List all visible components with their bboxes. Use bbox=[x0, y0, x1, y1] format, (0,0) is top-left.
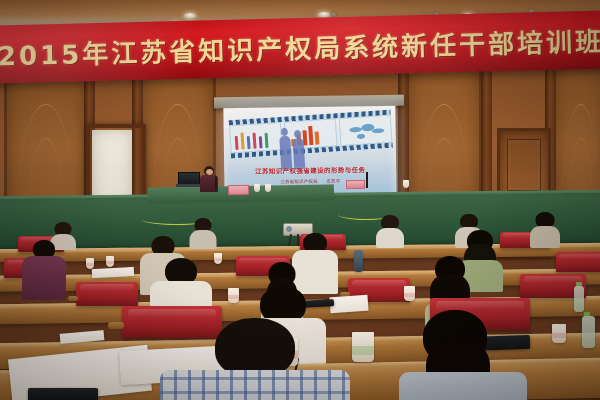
photo-scene: 江苏知识产权强省建设的形势与任务 江苏省知识产权局 支苏平 2015年7月3日 … bbox=[0, 0, 600, 400]
printed-handout-r3[interactable] bbox=[329, 295, 368, 314]
projector-lens bbox=[286, 226, 292, 232]
cup-r2-1[interactable] bbox=[552, 324, 566, 343]
water-bottle-r3[interactable] bbox=[574, 286, 584, 312]
attendee-hair bbox=[215, 318, 295, 378]
seat-r3-1[interactable] bbox=[76, 282, 138, 306]
tablet-foreground[interactable] bbox=[28, 388, 98, 400]
attendee-back-5 bbox=[530, 212, 560, 247]
cup-r4-3[interactable] bbox=[214, 253, 222, 264]
seat-r4-3[interactable] bbox=[556, 252, 600, 272]
head-table-cup-3 bbox=[403, 180, 409, 188]
laptop-base bbox=[176, 184, 200, 187]
cup-r3-1[interactable] bbox=[228, 288, 239, 303]
water-bottle-r2[interactable] bbox=[582, 316, 595, 348]
microphone-stand-right bbox=[366, 172, 368, 188]
head-table-cup-2 bbox=[265, 184, 271, 192]
cup-r4-2[interactable] bbox=[106, 256, 114, 267]
ceiling-light-2 bbox=[184, 13, 196, 19]
attendee-plaid-shirt-foreground bbox=[160, 318, 350, 400]
foreground-cup-2[interactable] bbox=[352, 332, 374, 362]
attendee-torso bbox=[376, 228, 404, 248]
head-table-cup-1 bbox=[254, 184, 260, 192]
head-table-nameplate-1 bbox=[228, 185, 249, 195]
attendee-back-3 bbox=[376, 215, 404, 247]
microphone-stand-left bbox=[215, 176, 217, 190]
attendee-torso bbox=[22, 256, 66, 300]
armrest-r2-1 bbox=[108, 322, 124, 329]
presenter-laptop[interactable] bbox=[176, 172, 200, 187]
attendee-purple-top bbox=[22, 240, 66, 298]
bottle-cap bbox=[576, 282, 582, 286]
world-map-graphic bbox=[340, 116, 392, 145]
slide-silhouette-figures bbox=[274, 124, 317, 171]
attendee-torso bbox=[160, 370, 350, 400]
attendee-back-2 bbox=[190, 218, 216, 248]
door-upper-panel bbox=[507, 139, 541, 191]
armrest-r3-1 bbox=[68, 296, 78, 301]
filmstrip-frame-worldmap bbox=[339, 115, 393, 146]
bottle-cap bbox=[584, 312, 590, 316]
cup-r3-2[interactable] bbox=[404, 286, 415, 301]
attendee-ponytail-foreground bbox=[398, 310, 528, 400]
cup-r4-1[interactable] bbox=[86, 258, 94, 269]
slide-title: 江苏知识产权强省建设的形势与任务 bbox=[224, 164, 396, 176]
attendee-torso bbox=[190, 230, 217, 249]
thermos-r4[interactable] bbox=[354, 250, 363, 272]
attendee-torso bbox=[530, 226, 560, 248]
head-table-nameplate-2 bbox=[346, 180, 365, 189]
attendee-torso bbox=[399, 372, 527, 400]
